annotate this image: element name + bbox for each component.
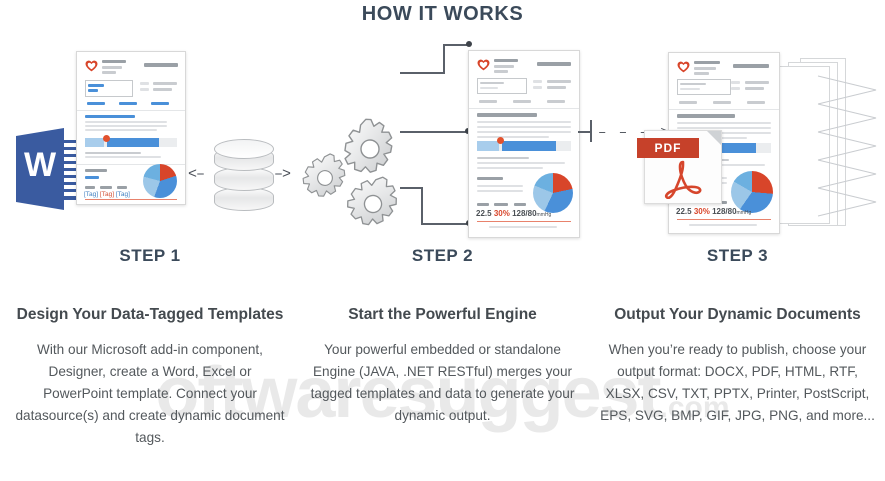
step-2-column: STEP 2 Start the Powerful Engine Your po… — [300, 246, 585, 427]
value-unit: mmHg — [737, 210, 752, 216]
marker-dot — [497, 137, 504, 144]
pdf-file-icon: PDF — [644, 130, 722, 204]
step-3-heading: Output Your Dynamic Documents — [590, 304, 885, 326]
arrow-left-icon: <– — [188, 167, 204, 182]
step-3-column: STEP 3 Output Your Dynamic Documents Whe… — [590, 246, 885, 427]
marker-dot — [103, 135, 110, 142]
step-2-body: Your powerful embedded or standalone Eng… — [310, 339, 575, 427]
step-3-label: STEP 3 — [590, 246, 885, 266]
step-2-label: STEP 2 — [300, 246, 585, 266]
step-3-body: When you’re ready to publish, choose you… — [598, 339, 878, 427]
pie-chart — [533, 173, 573, 213]
value-bmi: 22.5 — [676, 207, 692, 216]
value-bp: 128/80 — [512, 209, 536, 218]
word-icon-letter: W — [16, 148, 64, 182]
gears-icon — [298, 116, 418, 236]
value-bp: 128/80 — [712, 207, 736, 216]
pdf-badge-label: PDF — [637, 138, 699, 158]
tag-1: [Tag] — [84, 191, 98, 198]
page-title: HOW IT WORKS — [0, 3, 885, 26]
output-values: 22.5 30% 128/80mmHg — [676, 207, 751, 216]
template-tags: [Tag] [Tag] [Tag] — [84, 191, 130, 198]
step-1-column: STEP 1 Design Your Data-Tagged Templates… — [0, 246, 300, 449]
step-1-body: With our Microsoft add-in component, Des… — [15, 339, 285, 449]
word-icon: W — [16, 128, 84, 210]
template-document: [Tag] [Tag] [Tag] — [76, 51, 186, 205]
heart-logo-icon — [477, 59, 490, 71]
value-percent: 30% — [694, 207, 710, 216]
arrow-right-icon: –> — [274, 167, 290, 182]
pie-chart — [143, 164, 177, 198]
value-unit: mmHg — [537, 212, 552, 218]
acrobat-symbol-icon — [659, 159, 707, 199]
step-1-label: STEP 1 — [0, 246, 300, 266]
page-fold-corner — [707, 131, 721, 145]
database-icon — [214, 139, 274, 211]
merged-values: 22.5 30% 128/80mmHg — [476, 209, 551, 218]
heart-logo-icon — [85, 60, 98, 72]
connector-line-top — [400, 72, 445, 74]
tag-3: [Tag] — [116, 191, 130, 198]
merged-document: 22.5 30% 128/80mmHg — [468, 50, 580, 238]
value-percent: 30% — [494, 209, 510, 218]
step-1-heading: Design Your Data-Tagged Templates — [0, 304, 300, 326]
infographic-page: oftwaresuggest.com HOW IT WORKS W — [0, 0, 885, 481]
value-bmi: 22.5 — [476, 209, 492, 218]
connector-line-mid — [400, 131, 468, 133]
connector-line-bottom — [400, 187, 422, 189]
steps-columns: STEP 1 Design Your Data-Tagged Templates… — [0, 246, 885, 481]
graphics-band: W — [0, 38, 885, 238]
heart-logo-icon — [677, 61, 690, 73]
step-2-heading: Start the Powerful Engine — [300, 304, 585, 326]
tag-2: [Tag] — [100, 191, 114, 198]
